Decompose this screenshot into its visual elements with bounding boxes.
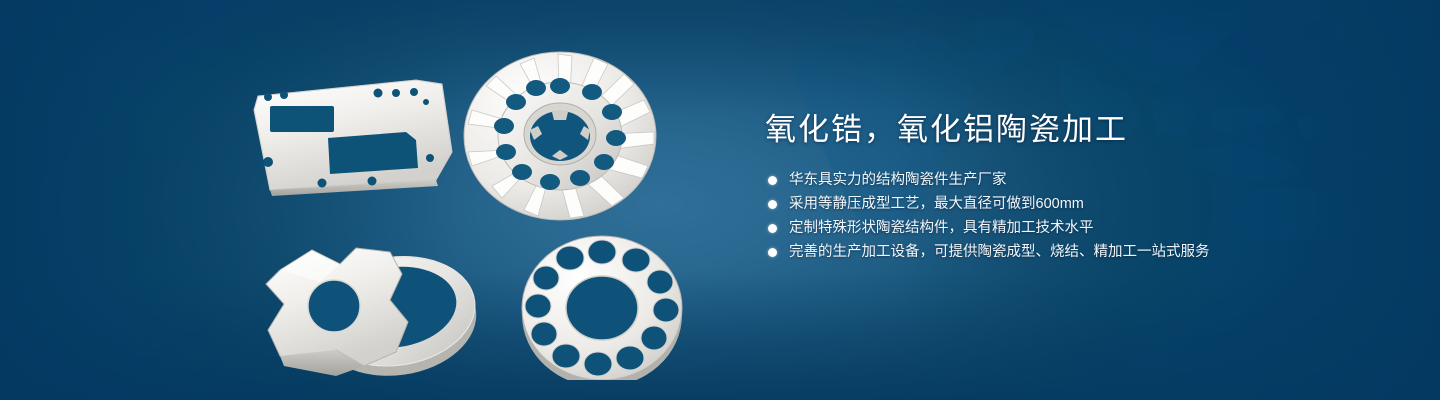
- feature-text: 完善的生产加工设备，可提供陶瓷成型、烧结、精加工一站式服务: [789, 244, 1210, 260]
- product-photo-group: [230, 40, 710, 380]
- bullet-dot-icon: [768, 200, 777, 209]
- feature-item: 采用等静压成型工艺，最大直径可做到600mm: [765, 196, 1385, 213]
- feature-text: 定制特殊形状陶瓷结构件，具有精加工技术水平: [789, 220, 1094, 236]
- promo-banner: 氧化锆，氧化铝陶瓷加工 华东具实力的结构陶瓷件生产厂家 采用等静压成型工艺，最大…: [0, 0, 1440, 400]
- feature-text: 采用等静压成型工艺，最大直径可做到600mm: [789, 196, 1084, 212]
- feature-list: 华东具实力的结构陶瓷件生产厂家 采用等静压成型工艺，最大直径可做到600mm 定…: [765, 172, 1385, 261]
- feature-item: 华东具实力的结构陶瓷件生产厂家: [765, 172, 1385, 189]
- ceramic-perforated-disc: [522, 236, 682, 380]
- feature-item: 定制特殊形状陶瓷结构件，具有精加工技术水平: [765, 220, 1385, 237]
- headline: 氧化锆，氧化铝陶瓷加工: [765, 110, 1385, 150]
- bullet-dot-icon: [768, 224, 777, 233]
- feature-text: 华东具实力的结构陶瓷件生产厂家: [789, 172, 1007, 188]
- feature-item: 完善的生产加工设备，可提供陶瓷成型、烧结、精加工一站式服务: [765, 244, 1385, 261]
- ceramic-cross-part-and-ring: [266, 247, 483, 380]
- ceramic-machined-plate: [254, 80, 452, 196]
- banner-copy: 氧化锆，氧化铝陶瓷加工 华东具实力的结构陶瓷件生产厂家 采用等静压成型工艺，最大…: [765, 110, 1385, 268]
- bullet-dot-icon: [768, 176, 777, 185]
- bullet-dot-icon: [768, 248, 777, 257]
- ceramic-impeller-disc: [464, 52, 656, 220]
